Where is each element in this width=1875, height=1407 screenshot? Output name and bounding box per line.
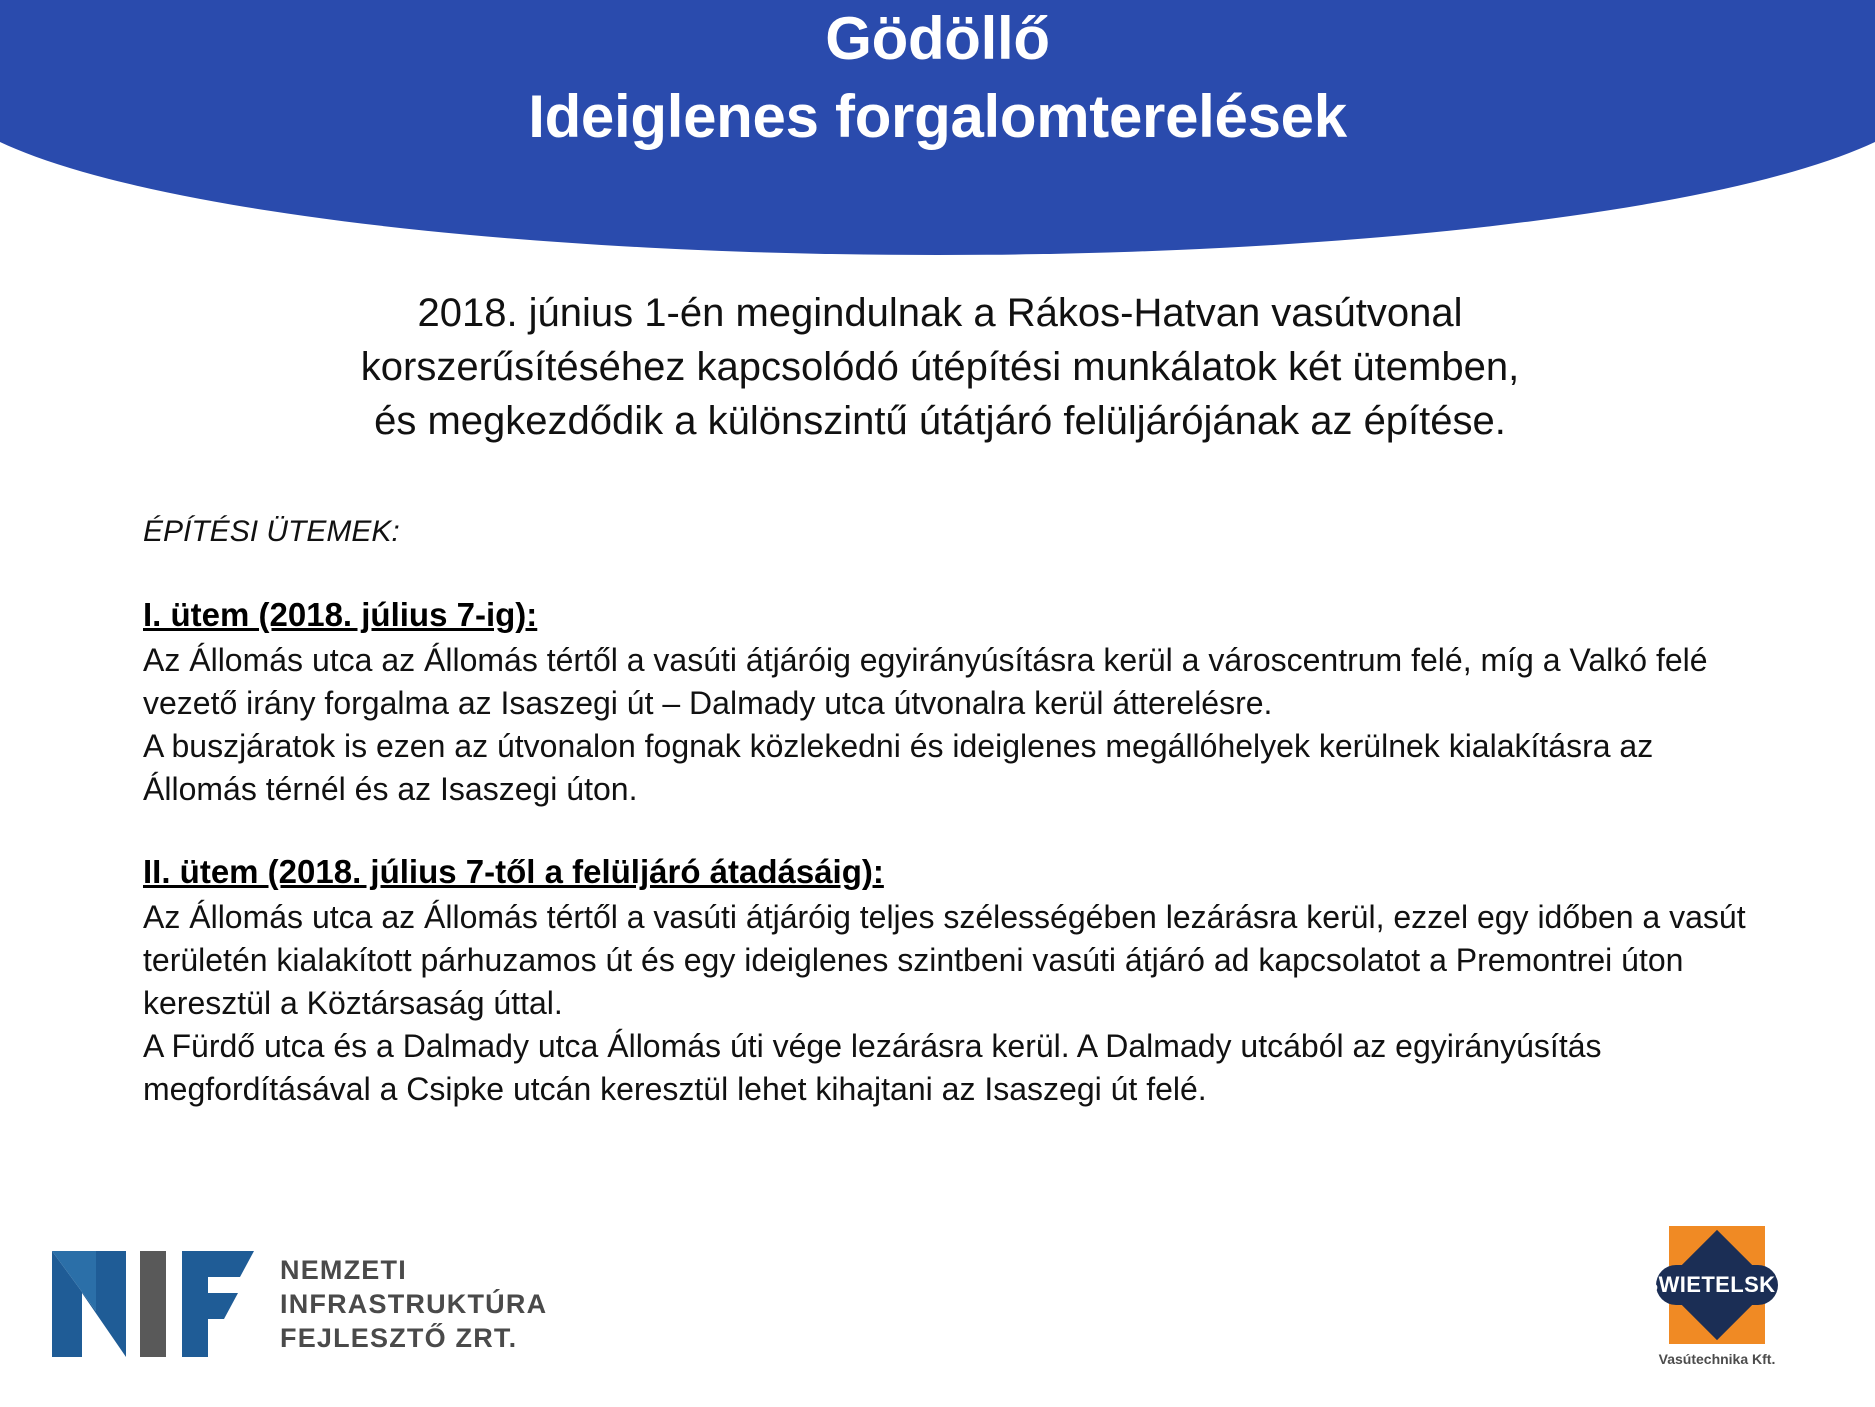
phase-1-paragraph-2: A buszjáratok is ezen az útvonalon fogna… [143,725,1763,811]
nif-word-3: FEJLESZTŐ ZRT. [280,1323,547,1354]
nif-word-2: INFRASTRUKTÚRA [280,1289,547,1320]
body-content: ÉPÍTÉSI ÜTEMEK: I. ütem (2018. július 7-… [143,514,1763,1111]
intro-line-3: és megkezdődik a különszintű útátjáró fe… [100,394,1780,448]
phase-1-paragraph-1: Az Állomás utca az Állomás tértől a vasú… [143,639,1763,725]
intro-line-2: korszerűsítéséhez kapcsolódó útépítési m… [100,340,1780,394]
swietelsky-logo: SWIETELSKY Vasútechnika Kft. [1635,1226,1799,1367]
header-banner: Gödöllő Ideiglenes forgalomterelések [0,0,1875,255]
nif-word-1: NEMZETI [280,1255,547,1286]
phase-2-paragraph-1: Az Állomás utca az Állomás tértől a vasú… [143,896,1763,1025]
swietelsky-band: SWIETELSKY [1656,1265,1778,1305]
swietelsky-subtitle: Vasútechnika Kft. [1635,1351,1799,1367]
construction-phases-label: ÉPÍTÉSI ÜTEMEK: [143,514,1763,550]
phase-section-1: I. ütem (2018. július 7-ig): Az Állomás … [143,594,1763,811]
phase-2-paragraph-2: A Fürdő utca és a Dalmady utca Állomás ú… [143,1025,1763,1111]
intro-line-1: 2018. június 1-én megindulnak a Rákos-Ha… [100,286,1780,340]
footer-logo-row: NEMZETI INFRASTRUKTÚRA FEJLESZTŐ ZRT. SW… [0,1217,1875,1407]
phase-section-2: II. ütem (2018. július 7-től a felüljáró… [143,851,1763,1111]
phase-2-heading: II. ütem (2018. július 7-től a felüljáró… [143,851,884,893]
page-title-line-1: Gödöllő [0,0,1875,78]
nif-monogram-icon [48,1249,258,1359]
nif-wordmark: NEMZETI INFRASTRUKTÚRA FEJLESZTŐ ZRT. [280,1255,547,1354]
phase-1-heading: I. ütem (2018. július 7-ig): [143,594,537,636]
swietelsky-wordmark: SWIETELSKY [1644,1274,1791,1296]
swietelsky-mark-icon: SWIETELSKY [1656,1226,1778,1344]
intro-paragraph: 2018. június 1-én megindulnak a Rákos-Ha… [100,286,1780,448]
page-title-line-2: Ideiglenes forgalomterelések [0,78,1875,156]
nif-logo: NEMZETI INFRASTRUKTÚRA FEJLESZTŐ ZRT. [48,1249,547,1359]
slide-canvas: Gödöllő Ideiglenes forgalomterelések 201… [0,0,1875,1407]
header-title-group: Gödöllő Ideiglenes forgalomterelések [0,0,1875,156]
